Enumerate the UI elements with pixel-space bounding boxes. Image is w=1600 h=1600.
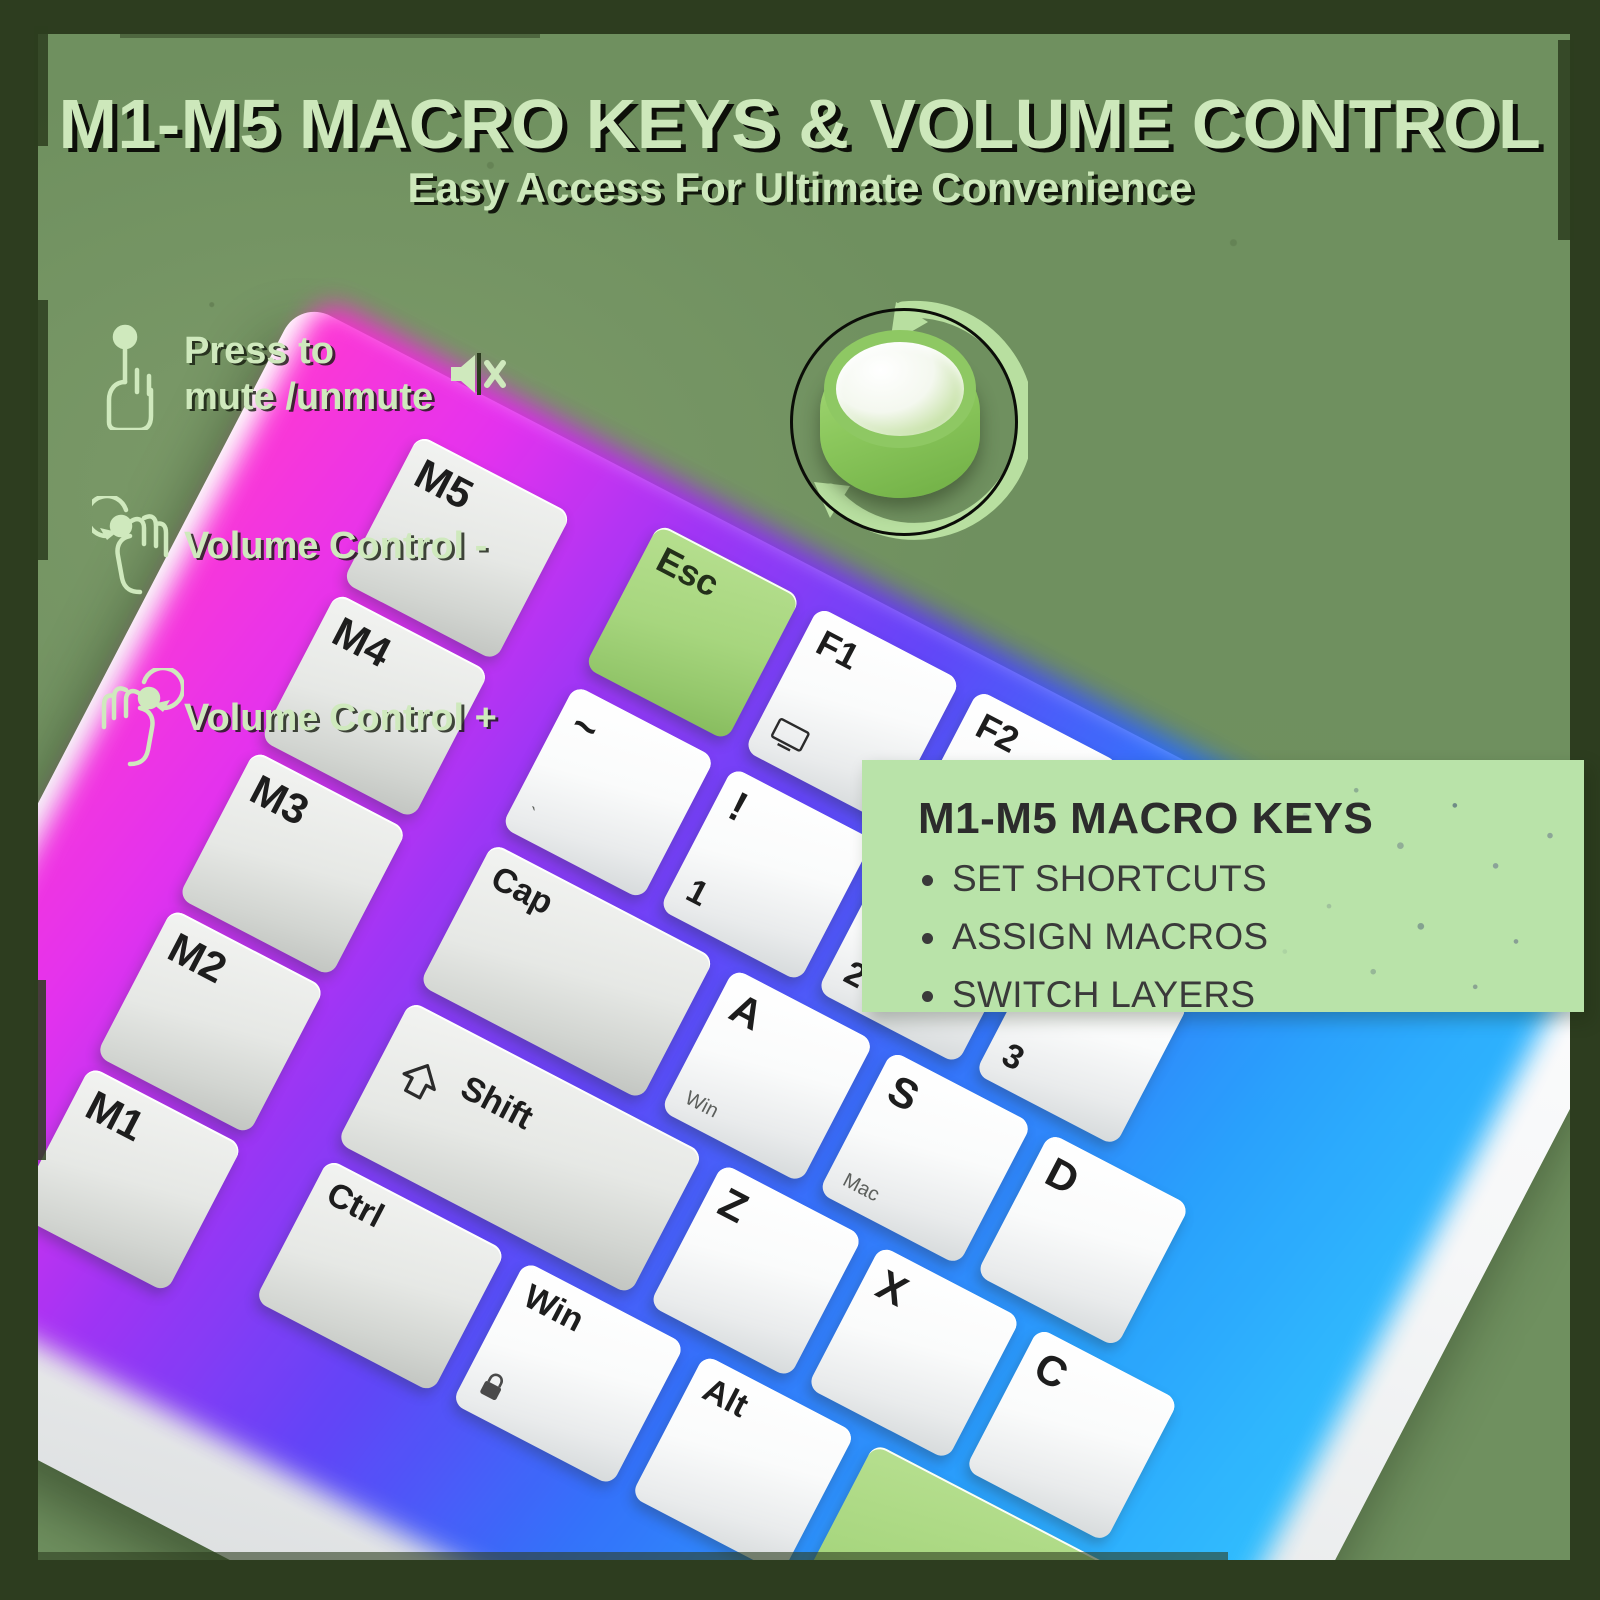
- callout-bullet: ASSIGN MACROS: [918, 916, 1584, 958]
- callout-bullet-list: SET SHORTCUTS ASSIGN MACROS SWITCH LAYER…: [862, 858, 1584, 1016]
- feature-list: Press to mute /unmute: [92, 324, 652, 840]
- feature-text: Volume Control +: [184, 695, 497, 741]
- feature-line-1: Volume Control -: [184, 523, 487, 569]
- feature-line-1: Press to: [184, 328, 433, 374]
- poster-canvas: M5 M4 M3 M2 M1 Esc F1: [0, 0, 1600, 1600]
- callout-bullet: SET SHORTCUTS: [918, 858, 1584, 900]
- page-title: M1-M5 MACRO KEYS & VOLUME CONTROL: [0, 84, 1600, 164]
- speaker-mute-icon: [447, 351, 509, 397]
- finger-press-icon: [92, 324, 184, 424]
- page-subtitle: Easy Access For Ultimate Convenience: [0, 164, 1600, 212]
- feature-item-volume-down: Volume Control -: [92, 496, 652, 596]
- feature-line-1: Volume Control +: [184, 695, 497, 741]
- callout-heading: M1-M5 MACRO KEYS: [862, 760, 1584, 844]
- feature-item-mute: Press to mute /unmute: [92, 324, 652, 424]
- feature-item-volume-up: Volume Control +: [92, 668, 652, 768]
- feature-line-2: mute /unmute: [184, 374, 433, 420]
- hand-rotate-counterclockwise-icon: [92, 496, 184, 596]
- macro-keys-callout: M1-M5 MACRO KEYS SET SHORTCUTS ASSIGN MA…: [862, 760, 1584, 1012]
- feature-text: Volume Control -: [184, 523, 487, 569]
- feature-text: Press to mute /unmute: [184, 328, 509, 421]
- callout-bullet: SWITCH LAYERS: [918, 974, 1584, 1016]
- hand-rotate-clockwise-icon: [92, 668, 184, 768]
